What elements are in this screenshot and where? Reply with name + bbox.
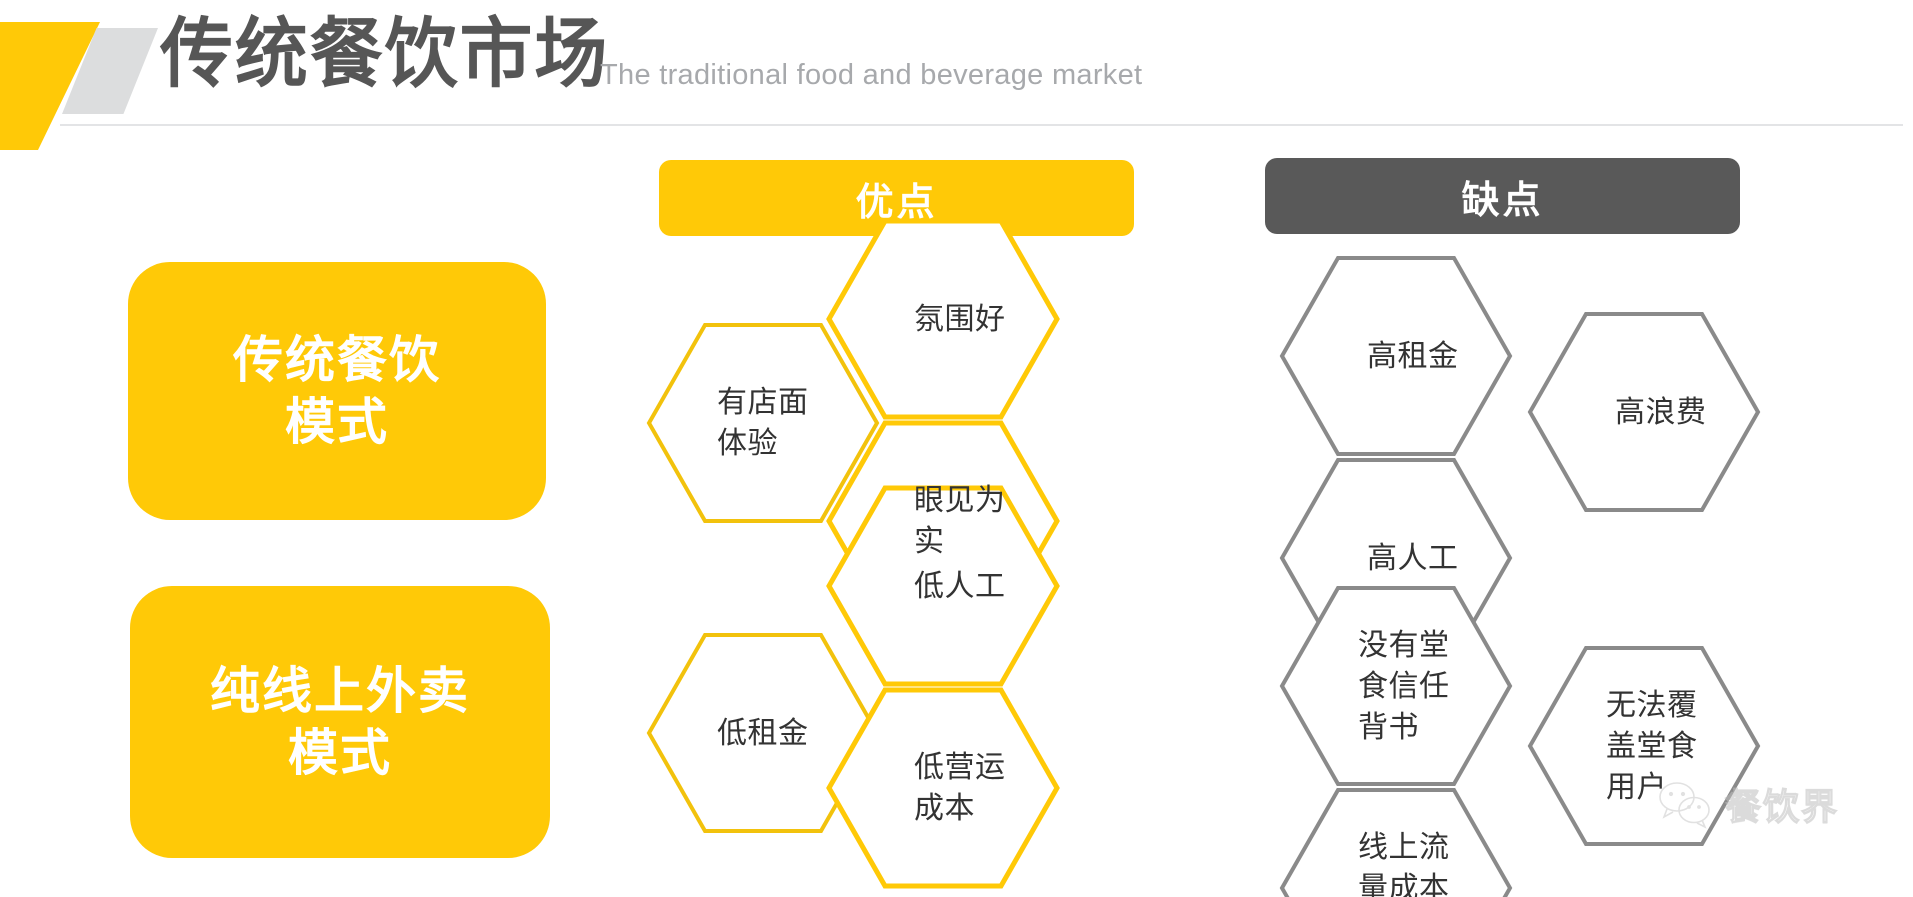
header-divider	[60, 124, 1903, 126]
page-subtitle: The traditional food and beverage market	[600, 58, 1142, 92]
slide-canvas: 传统餐饮市场 The traditional food and beverage…	[0, 0, 1913, 897]
page-title: 传统餐饮市场	[160, 13, 609, 97]
mode-card-traditional-line2: 模式	[285, 391, 389, 453]
hex-label: 无法覆 盖堂食 用户	[1606, 685, 1698, 808]
hex-cons-no-dine-in-trust: 没有堂 食信任 背书	[1280, 586, 1512, 786]
hex-label: 高租金	[1367, 336, 1459, 377]
hex-label: 有店面 体验	[717, 382, 809, 464]
hex-cons-high-waste: 高浪费	[1528, 312, 1760, 512]
hex-label: 高浪费	[1615, 392, 1707, 433]
mode-card-traditional-line1: 传统餐饮	[233, 329, 441, 391]
watermark-label: 餐饮界	[1725, 778, 1839, 830]
hex-label: 低营运 成本	[914, 747, 1006, 829]
hex-label: 高人工	[1367, 538, 1459, 579]
hex-label: 低租金	[717, 713, 809, 754]
hex-label: 低人工	[914, 566, 1006, 607]
mode-card-online-delivery-line1: 纯线上外卖	[210, 660, 470, 722]
hex-label: 没有堂 食信任 背书	[1358, 625, 1450, 748]
hex-cons-high-online-traffic-cost: 线上流 量成本 高	[1280, 788, 1512, 897]
column-header-cons: 缺点	[1265, 158, 1740, 234]
hex-cons-high-rent: 高租金	[1280, 256, 1512, 456]
hex-label: 氛围好	[914, 299, 1006, 340]
hex-pros-low-operating-cost: 低营运 成本	[827, 688, 1059, 888]
mode-card-online-delivery: 纯线上外卖 模式	[130, 586, 550, 858]
hex-label: 线上流 量成本 高	[1358, 827, 1450, 897]
mode-card-online-delivery-line2: 模式	[288, 722, 392, 784]
mode-card-traditional: 传统餐饮 模式	[128, 262, 546, 520]
hex-pros-good-atmosphere: 氛围好	[827, 219, 1059, 419]
hex-label: 眼见为 实	[914, 480, 1006, 562]
